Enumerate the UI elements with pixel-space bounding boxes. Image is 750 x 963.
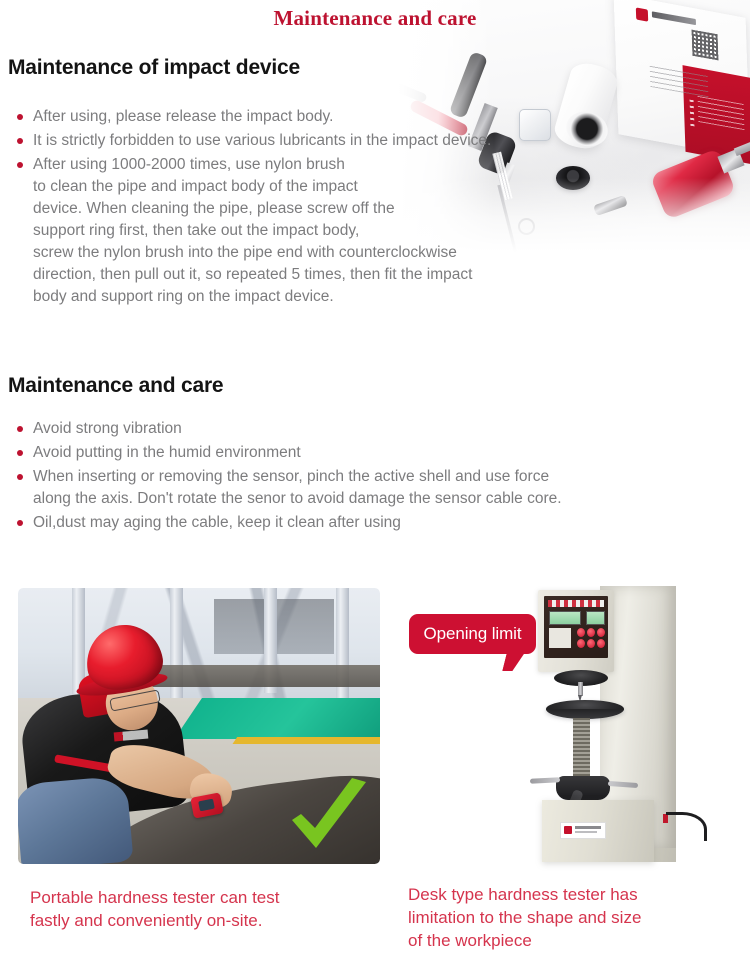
list-item: Avoid putting in the humid environment xyxy=(8,442,738,464)
page-title: Maintenance and care xyxy=(0,6,750,31)
list-item: It is strictly forbidden to use various … xyxy=(8,130,648,152)
bullet-list-maintenance-care: Avoid strong vibration Avoid putting in … xyxy=(8,418,738,536)
list-item: When inserting or removing the sensor, p… xyxy=(8,466,738,510)
list-item: Avoid strong vibration xyxy=(8,418,738,440)
caption-desk-tester: Desk type hardness tester has limitation… xyxy=(408,883,738,952)
section-heading-maintenance-care: Maintenance and care xyxy=(8,374,223,398)
content-text-layer: Maintenance and care Maintenance of impa… xyxy=(0,0,750,963)
opening-limit-label: Opening limit xyxy=(424,624,522,644)
list-item: After using, please release the impact b… xyxy=(8,106,648,128)
caption-portable-tester: Portable hardness tester can test fastly… xyxy=(30,886,360,932)
section-heading-impact-device: Maintenance of impact device xyxy=(8,56,300,80)
opening-limit-badge: Opening limit xyxy=(409,614,536,654)
list-item: Oil,dust may aging the cable, keep it cl… xyxy=(8,512,738,534)
bullet-list-impact-device: After using, please release the impact b… xyxy=(8,106,648,310)
list-item: After using 1000-2000 times, use nylon b… xyxy=(8,154,648,308)
